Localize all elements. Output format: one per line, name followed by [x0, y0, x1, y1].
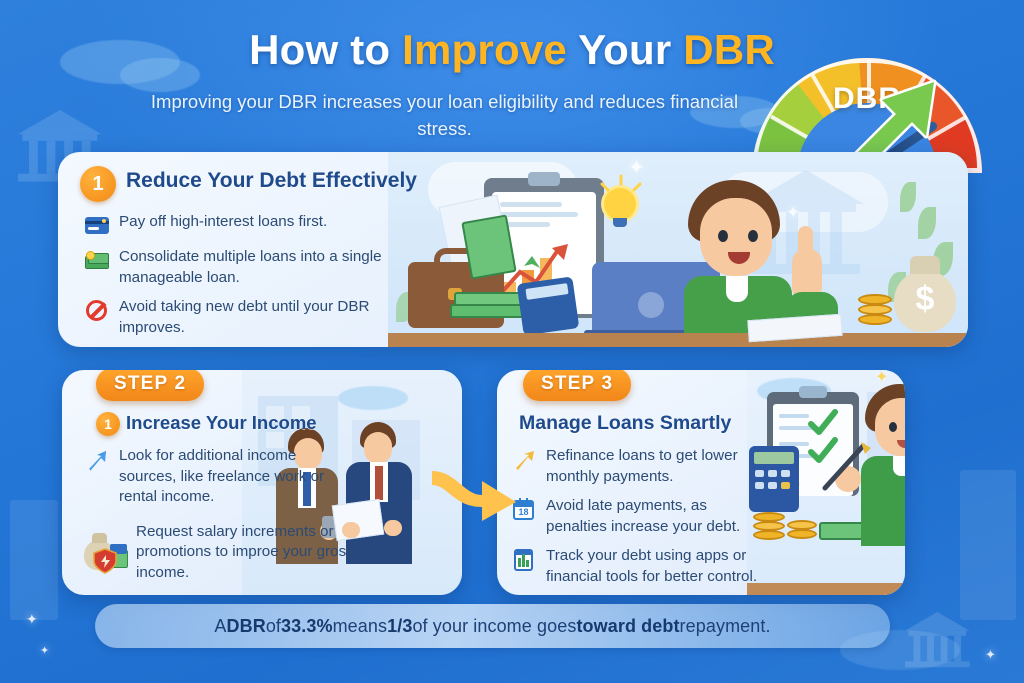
title-part-2: Improve — [402, 26, 578, 73]
page-subtitle: Improving your DBR increases your loan e… — [122, 88, 767, 142]
credit-card-icon — [84, 212, 110, 238]
list-item: 18 Avoid late payments, as penalties inc… — [507, 496, 771, 537]
sparkle-icon: ✦ — [26, 612, 38, 626]
footer-part-4: 33.3% — [281, 616, 333, 637]
title-part-3: Your — [578, 26, 683, 73]
step1-illustration: $ ✦ ✦ — [388, 152, 968, 347]
footer-part-3: of — [266, 616, 281, 637]
step-card-1: $ ✦ ✦ 1 Reduce Your Debt Effectively Pay… — [58, 152, 968, 347]
sparkle-icon: ✦ — [40, 646, 49, 657]
bullet-text: Pay off high-interest loans first. — [119, 212, 327, 233]
list-item: Consolidate multiple loans into a single… — [84, 247, 384, 288]
step1-number: 1 — [92, 173, 103, 195]
step2-pill: STEP 2 — [96, 370, 204, 401]
list-item: Pay off high-interest loans first. — [84, 212, 384, 238]
bullet-text: Refinance loans to get lower monthly pay… — [546, 446, 771, 487]
city-silhouette — [10, 500, 58, 620]
bullet-text: Avoid late payments, as penalties increa… — [546, 496, 771, 537]
bullet-text: Track your debt using apps or financial … — [546, 546, 771, 587]
bullet-text: Avoid taking new debt until your DBR imp… — [119, 297, 384, 338]
footer-banner: A DBR of 33.3% means 1/3 of your income … — [95, 604, 890, 648]
footer-part-2: DBR — [227, 616, 266, 637]
footer-part-1: A — [214, 616, 226, 637]
footer-part-9: repayment. — [680, 616, 771, 637]
title-part-1: How to — [249, 26, 402, 73]
sparkle-icon: ✦ — [985, 648, 996, 661]
infographic-canvas: ✦ ✦ ✦ How to Improve Your DBR Improving … — [0, 0, 1024, 683]
city-silhouette — [960, 470, 1016, 620]
footer-part-5: means — [333, 616, 388, 637]
step2-number-badge: 1 — [96, 412, 120, 436]
step3-title: Manage Loans Smartly — [519, 412, 731, 435]
bullet-text: Request salary increments or promotions … — [132, 522, 356, 584]
step3-pill: STEP 3 — [523, 370, 631, 401]
step2-bullet-list: Look for additional income sources, like… — [84, 446, 356, 592]
footer-part-6: 1/3 — [387, 616, 412, 637]
step3-bullet-list: Refinance loans to get lower monthly pay… — [507, 446, 771, 595]
step1-number-badge: 1 — [80, 166, 116, 202]
step1-title: Reduce Your Debt Effectively — [126, 169, 417, 193]
step-card-3: ✦ ✦ STEP 3 Manage Loans Smartly Refinanc… — [497, 370, 905, 595]
footer-part-7: of your income goes — [412, 616, 576, 637]
money-stack-icon — [84, 247, 110, 273]
list-item: Track your debt using apps or financial … — [507, 546, 771, 587]
money-bag-shield-icon — [84, 532, 128, 576]
step-card-2: STEP 2 1 Increase Your Income Look for a… — [62, 370, 462, 595]
prohibition-icon — [84, 297, 110, 323]
list-item: Request salary increments or promotions … — [84, 522, 356, 584]
list-item: Look for additional income sources, like… — [84, 446, 356, 508]
step1-bullet-list: Pay off high-interest loans first. Conso… — [84, 212, 384, 347]
arrow-up-right-icon — [84, 446, 110, 472]
footer-text: A DBR of 33.3% means 1/3 of your income … — [95, 604, 890, 648]
bullet-text: Consolidate multiple loans into a single… — [119, 247, 384, 288]
connector-arrow-icon — [430, 455, 520, 525]
list-item: Avoid taking new debt until your DBR imp… — [84, 297, 384, 338]
step2-title: Increase Your Income — [126, 412, 317, 434]
bullet-text: Look for additional income sources, like… — [119, 446, 356, 508]
list-item: Refinance loans to get lower monthly pay… — [507, 446, 771, 487]
step2-number: 1 — [104, 416, 112, 432]
footer-part-8: toward debt — [576, 616, 679, 637]
mobile-chart-icon — [511, 546, 537, 572]
